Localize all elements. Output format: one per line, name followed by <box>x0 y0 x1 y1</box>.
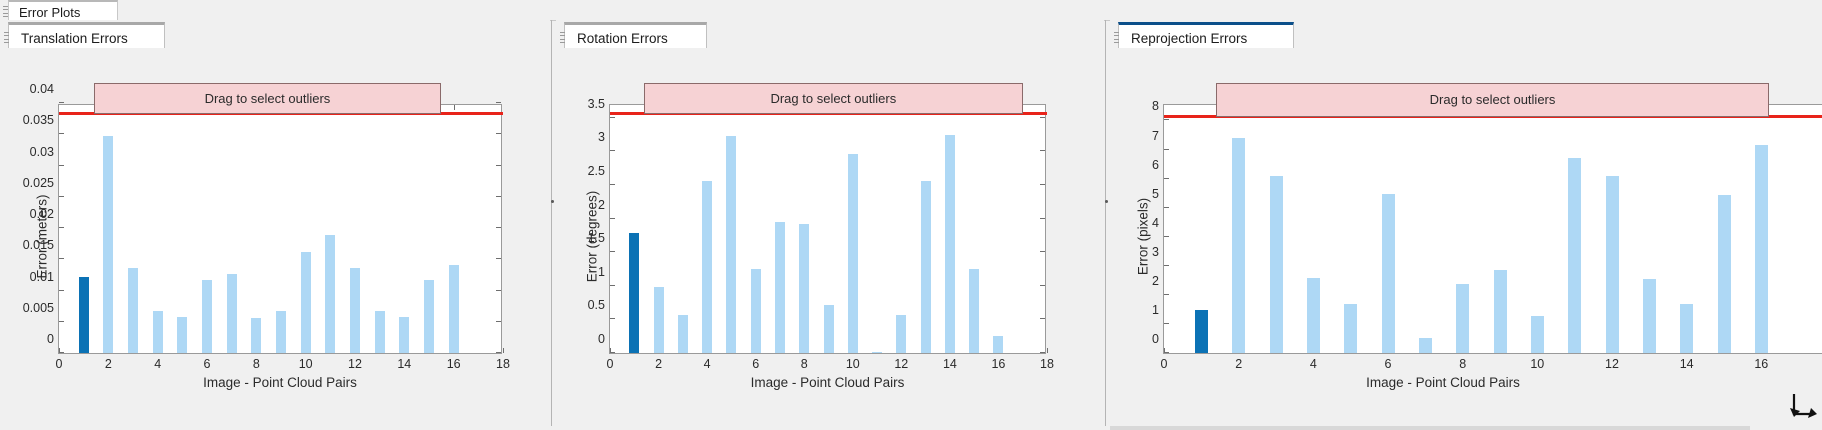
x-tick-label: 18 <box>1040 357 1054 371</box>
x-tick-label: 2 <box>105 357 112 371</box>
x-tick-label: 16 <box>1754 357 1768 371</box>
panel1-tab-strip: Translation Errors <box>0 20 550 48</box>
x-tick-label: 12 <box>1605 357 1619 371</box>
bar-pair-9[interactable] <box>276 311 286 354</box>
x-tick-label: 14 <box>397 357 411 371</box>
y-tick-label: 4 <box>1152 216 1159 230</box>
bar-pair-6[interactable] <box>202 280 212 353</box>
bar-pair-3[interactable] <box>678 315 688 353</box>
outlier-band-label: Drag to select outliers <box>1430 92 1556 107</box>
y-tick-label: 1 <box>1152 303 1159 317</box>
x-tick-label: 8 <box>801 357 808 371</box>
x-tick-label: 14 <box>1680 357 1694 371</box>
bar-pair-2[interactable] <box>654 287 664 353</box>
translation-errors-axes: 0 0.005 0.01 0.015 0.02 0.025 0.03 0.035… <box>58 104 502 354</box>
panel3-tab-label: Reprojection Errors <box>1131 31 1247 46</box>
x-axis-label: Image - Point Cloud Pairs <box>609 375 1046 390</box>
outlier-band-label: Drag to select outliers <box>205 91 331 106</box>
x-tick-label: 8 <box>1459 357 1466 371</box>
grip-dots-icon <box>1114 32 1119 43</box>
tab-translation-errors[interactable]: Translation Errors <box>8 22 165 51</box>
bar-pair-16[interactable] <box>1755 145 1768 353</box>
bar-pair-12[interactable] <box>350 268 360 353</box>
y-tick-label: 2 <box>1152 274 1159 288</box>
grip-dots-icon <box>560 32 565 43</box>
bar-pair-1[interactable] <box>79 277 89 353</box>
bar-pair-8[interactable] <box>251 318 261 353</box>
bar-pair-10[interactable] <box>848 154 858 353</box>
bar-pair-10[interactable] <box>1531 316 1544 353</box>
bar-pair-14[interactable] <box>1680 304 1693 353</box>
x-tick-label: 18 <box>496 357 510 371</box>
bar-pair-9[interactable] <box>1494 270 1507 353</box>
y-axis-label: Error (meters) <box>35 157 50 317</box>
bar-pair-12[interactable] <box>896 315 906 353</box>
y-tick-label: 5 <box>1152 187 1159 201</box>
y-axis-label: Error (degrees) <box>585 157 600 317</box>
bar-pair-4[interactable] <box>702 181 712 353</box>
bar-pair-15[interactable] <box>424 280 434 353</box>
x-tick-label: 4 <box>1310 357 1317 371</box>
bar-pair-9[interactable] <box>824 305 834 353</box>
x-tick-label: 0 <box>607 357 614 371</box>
plot-panels-container: Translation Errors 0 0.005 0.01 0.015 0.… <box>0 20 1822 426</box>
x-tick-label: 10 <box>846 357 860 371</box>
bar-pair-8[interactable] <box>799 224 809 353</box>
tab-error-plots[interactable]: Error Plots <box>8 0 118 22</box>
bar-pair-7[interactable] <box>227 274 237 353</box>
splitter-grip-dot <box>1105 200 1108 203</box>
bar-pair-13[interactable] <box>375 311 385 353</box>
x-tick-label: 16 <box>447 357 461 371</box>
y-tick-label: 3 <box>1152 245 1159 259</box>
panel1-plot-area: 0 0.005 0.01 0.015 0.02 0.025 0.03 0.035… <box>0 48 550 426</box>
outer-tab-strip: Error Plots <box>0 0 1822 21</box>
x-tick-label: 2 <box>1235 357 1242 371</box>
panel3-plot-area: 0 1 2 3 4 5 6 7 8 0 2 4 6 <box>1110 48 1822 426</box>
bar-pair-16[interactable] <box>449 265 459 353</box>
y-tick-label: 3 <box>598 130 605 144</box>
tab-rotation-errors[interactable]: Rotation Errors <box>564 22 707 51</box>
outlier-selection-band[interactable]: Drag to select outliers <box>94 83 442 114</box>
outlier-selection-band[interactable]: Drag to select outliers <box>644 83 1023 114</box>
error-plots-window: Error Plots Translation Errors <box>0 0 1822 430</box>
x-tick-label: 14 <box>943 357 957 371</box>
x-tick-label: 10 <box>299 357 313 371</box>
x-axis-label: Image - Point Cloud Pairs <box>58 375 502 390</box>
reprojection-errors-axes: 0 1 2 3 4 5 6 7 8 0 2 4 6 <box>1163 104 1822 354</box>
bar-pair-4[interactable] <box>1307 278 1320 353</box>
bar-pair-3[interactable] <box>1270 176 1283 353</box>
bar-pair-12[interactable] <box>1606 176 1619 353</box>
bar-pair-15[interactable] <box>1718 195 1731 353</box>
y-tick-label: 3.5 <box>588 97 605 111</box>
bar-pair-6[interactable] <box>1382 194 1395 353</box>
bar-pair-7[interactable] <box>1419 338 1432 353</box>
bar-pair-5[interactable] <box>726 136 736 353</box>
x-axis-label: Image - Point Cloud Pairs <box>1163 375 1723 390</box>
grip-dots-icon <box>4 32 9 43</box>
panel2-tab-strip: Rotation Errors <box>556 20 1104 48</box>
bar-pair-11[interactable] <box>872 352 882 353</box>
outer-tab-label: Error Plots <box>19 5 80 20</box>
y-tick-label: 0.035 <box>23 113 54 127</box>
panel-rotation-errors: Rotation Errors 0 0.5 1 1.5 2 2.5 3 3.5 <box>556 20 1104 426</box>
bar-pair-7[interactable] <box>775 222 785 353</box>
y-axis-label: Error (pixels) <box>1136 157 1151 317</box>
y-tick-label: 8 <box>1152 99 1159 113</box>
panel2-plot-area: 0 0.5 1 1.5 2 2.5 3 3.5 <box>556 48 1104 426</box>
x-tick-label: 6 <box>752 357 759 371</box>
x-tick-label: 6 <box>1385 357 1392 371</box>
y-tick-label: 0 <box>1152 332 1159 346</box>
outlier-band-label: Drag to select outliers <box>770 91 896 106</box>
x-tick-label: 6 <box>204 357 211 371</box>
x-tick-label: 0 <box>1161 357 1168 371</box>
bar-pair-15[interactable] <box>969 269 979 353</box>
bar-pair-10[interactable] <box>301 252 311 353</box>
panel1-tab-label: Translation Errors <box>21 31 128 46</box>
bar-pair-16[interactable] <box>993 336 1003 353</box>
panel-splitter-1[interactable] <box>551 20 552 426</box>
y-tick-label: 7 <box>1152 129 1159 143</box>
panel-translation-errors: Translation Errors 0 0.005 0.01 0.015 0.… <box>0 20 550 426</box>
bar-pair-11[interactable] <box>1568 158 1581 353</box>
splitter-grip-dot <box>551 200 554 203</box>
grip-dots-icon <box>3 6 8 17</box>
y-tick-label: 0 <box>47 332 54 346</box>
bar-pair-4[interactable] <box>153 311 163 353</box>
x-tick-label: 12 <box>348 357 362 371</box>
tab-reprojection-errors[interactable]: Reprojection Errors <box>1118 22 1294 51</box>
rotation-errors-axes: 0 0.5 1 1.5 2 2.5 3 3.5 <box>609 104 1046 354</box>
resize-cursor-icon <box>1786 390 1820 424</box>
bar-pair-14[interactable] <box>945 135 955 353</box>
bar-pair-13[interactable] <box>921 181 931 353</box>
y-tick-label: 0.04 <box>30 82 54 96</box>
outlier-selection-band[interactable]: Drag to select outliers <box>1216 83 1769 117</box>
bar-pair-2[interactable] <box>103 136 113 353</box>
x-tick-label: 0 <box>56 357 63 371</box>
horizontal-scrollbar[interactable] <box>1110 426 1750 430</box>
bar-pair-11[interactable] <box>325 235 335 353</box>
bar-pair-1[interactable] <box>1195 310 1208 353</box>
x-tick-label: 16 <box>991 357 1005 371</box>
bar-pair-2[interactable] <box>1232 138 1245 353</box>
bar-pair-1[interactable] <box>629 233 639 353</box>
x-tick-label: 8 <box>253 357 260 371</box>
panel-splitter-2[interactable] <box>1105 20 1106 426</box>
bar-pair-13[interactable] <box>1643 279 1656 353</box>
x-tick-label: 12 <box>894 357 908 371</box>
x-tick-label: 2 <box>655 357 662 371</box>
y-tick-label: 6 <box>1152 158 1159 172</box>
bar-pair-5[interactable] <box>1344 304 1357 353</box>
x-tick-label: 4 <box>704 357 711 371</box>
x-tick-label: 4 <box>154 357 161 371</box>
y-tick-label: 0 <box>598 332 605 346</box>
x-tick-label: 10 <box>1530 357 1544 371</box>
panel3-tab-strip: Reprojection Errors <box>1110 20 1822 48</box>
bar-pair-5[interactable] <box>177 317 187 353</box>
bar-pair-6[interactable] <box>751 269 761 353</box>
bar-pair-3[interactable] <box>128 268 138 353</box>
panel-reprojection-errors: Reprojection Errors 0 1 2 3 4 5 6 7 8 <box>1110 20 1822 426</box>
bar-pair-8[interactable] <box>1456 284 1469 353</box>
panel2-tab-label: Rotation Errors <box>577 31 668 46</box>
bar-pair-14[interactable] <box>399 317 409 353</box>
